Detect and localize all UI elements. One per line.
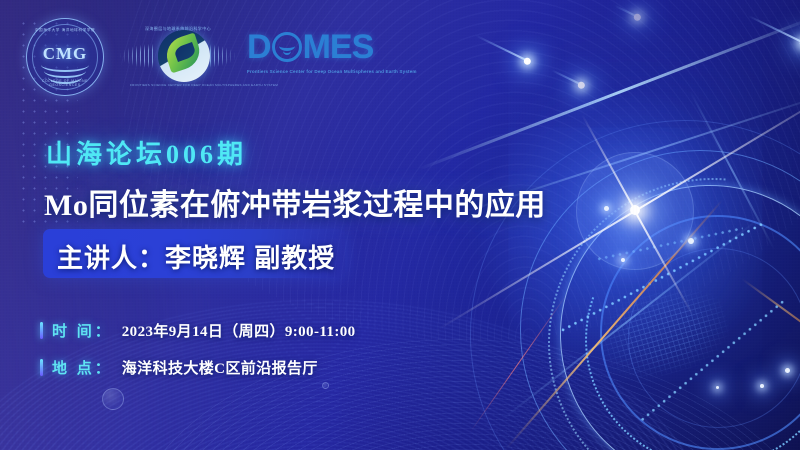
speaker-text: 主讲人：李晓辉 副教授 xyxy=(57,238,335,275)
domes-word-end: MES xyxy=(303,28,374,66)
sound-wave-left-icon xyxy=(120,44,154,68)
time-value: 2023年9月14日（周四）9:00-11:00 xyxy=(122,320,356,341)
domes-logo: D MES Frontiers Science Center for Deep … xyxy=(247,28,382,74)
page-title: Mo同位素在俯冲带岩浆过程中的应用 xyxy=(44,180,546,224)
cmg-acronym: CMG xyxy=(27,44,103,64)
bubble-small xyxy=(322,382,329,389)
place-value: 海洋科技大楼C区前沿报告厅 xyxy=(122,357,318,378)
deep-ocean-lab-en-text: FRONTIERS SCIENCE CENTER FOR DEEP OCEAN … xyxy=(130,83,226,87)
logo-bar: 中国海洋大学 海洋地球科学学院 CMG COLLEGE OF MARINE GE… xyxy=(0,0,800,108)
time-accent-bar xyxy=(40,322,43,339)
bubble-large xyxy=(102,388,124,410)
domes-dome-icon xyxy=(272,32,302,62)
place-row: 地 点： 海洋科技大楼C区前沿报告厅 xyxy=(40,357,318,378)
deep-ocean-lab-logo: 深海圈层与地球系统前沿科学中心 FRONTIERS SCIENCE CENTER… xyxy=(130,28,226,84)
globe-leaf-icon xyxy=(158,30,210,82)
place-accent-bar xyxy=(40,359,43,376)
cmg-ring-bottom-text: COLLEGE OF MARINE GEOSCIENCES xyxy=(27,79,103,87)
domes-subtitle: Frontiers Science Center for Deep Ocean … xyxy=(247,69,382,74)
time-row: 时 间： 2023年9月14日（周四）9:00-11:00 xyxy=(40,320,356,341)
seminar-poster: 中国海洋大学 海洋地球科学学院 CMG COLLEGE OF MARINE GE… xyxy=(0,0,800,450)
domes-wordmark: D MES xyxy=(247,28,382,66)
series-label: 山海论坛006期 xyxy=(46,134,247,171)
domes-word-start: D xyxy=(247,28,271,66)
time-label: 时 间： xyxy=(52,320,113,341)
place-label: 地 点： xyxy=(52,357,113,378)
cmg-logo: 中国海洋大学 海洋地球科学学院 CMG COLLEGE OF MARINE GE… xyxy=(26,18,104,96)
cmg-ring-top-text: 中国海洋大学 海洋地球科学学院 xyxy=(27,28,103,33)
